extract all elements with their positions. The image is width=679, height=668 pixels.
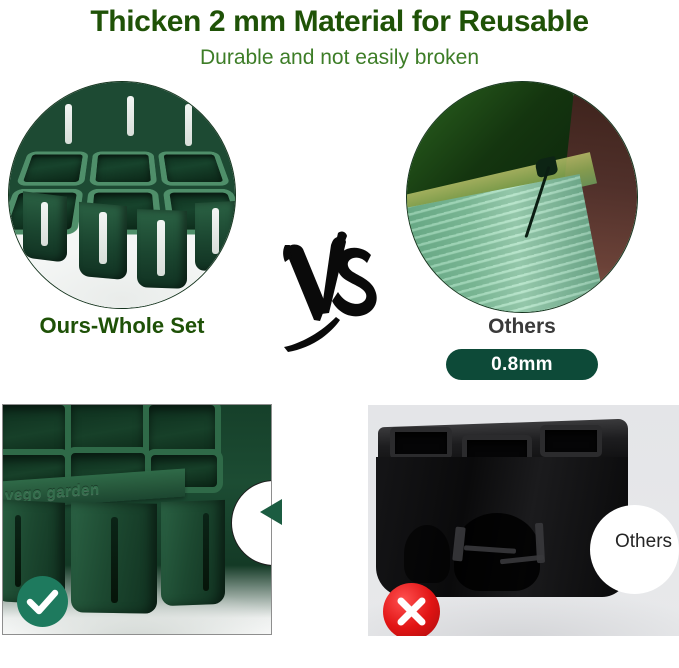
others-photo-image bbox=[407, 82, 637, 312]
header: Thicken 2 mm Material for Reusable Durab… bbox=[0, 0, 679, 73]
ours-product-photo bbox=[8, 81, 236, 309]
top-comparison-row: Ours-Whole Set Others 0.8mm bbox=[0, 73, 679, 393]
check-icon bbox=[17, 576, 68, 627]
vs-icon bbox=[276, 221, 380, 353]
x-icon bbox=[383, 583, 440, 636]
thickness-badge: 0.8mm bbox=[446, 349, 598, 380]
others-product-photo bbox=[406, 81, 638, 313]
page-subtitle: Durable and not easily broken bbox=[0, 43, 679, 73]
bottom-comparison-row: vego garden bbox=[0, 393, 679, 636]
ours-label: Ours-Whole Set bbox=[8, 313, 236, 339]
others-label: Others bbox=[406, 315, 638, 339]
others-bottom-label: Others bbox=[615, 531, 672, 553]
ours-photo-image bbox=[9, 82, 235, 308]
page-title: Thicken 2 mm Material for Reusable bbox=[0, 4, 679, 40]
comparison-arrow-icon bbox=[260, 499, 282, 525]
